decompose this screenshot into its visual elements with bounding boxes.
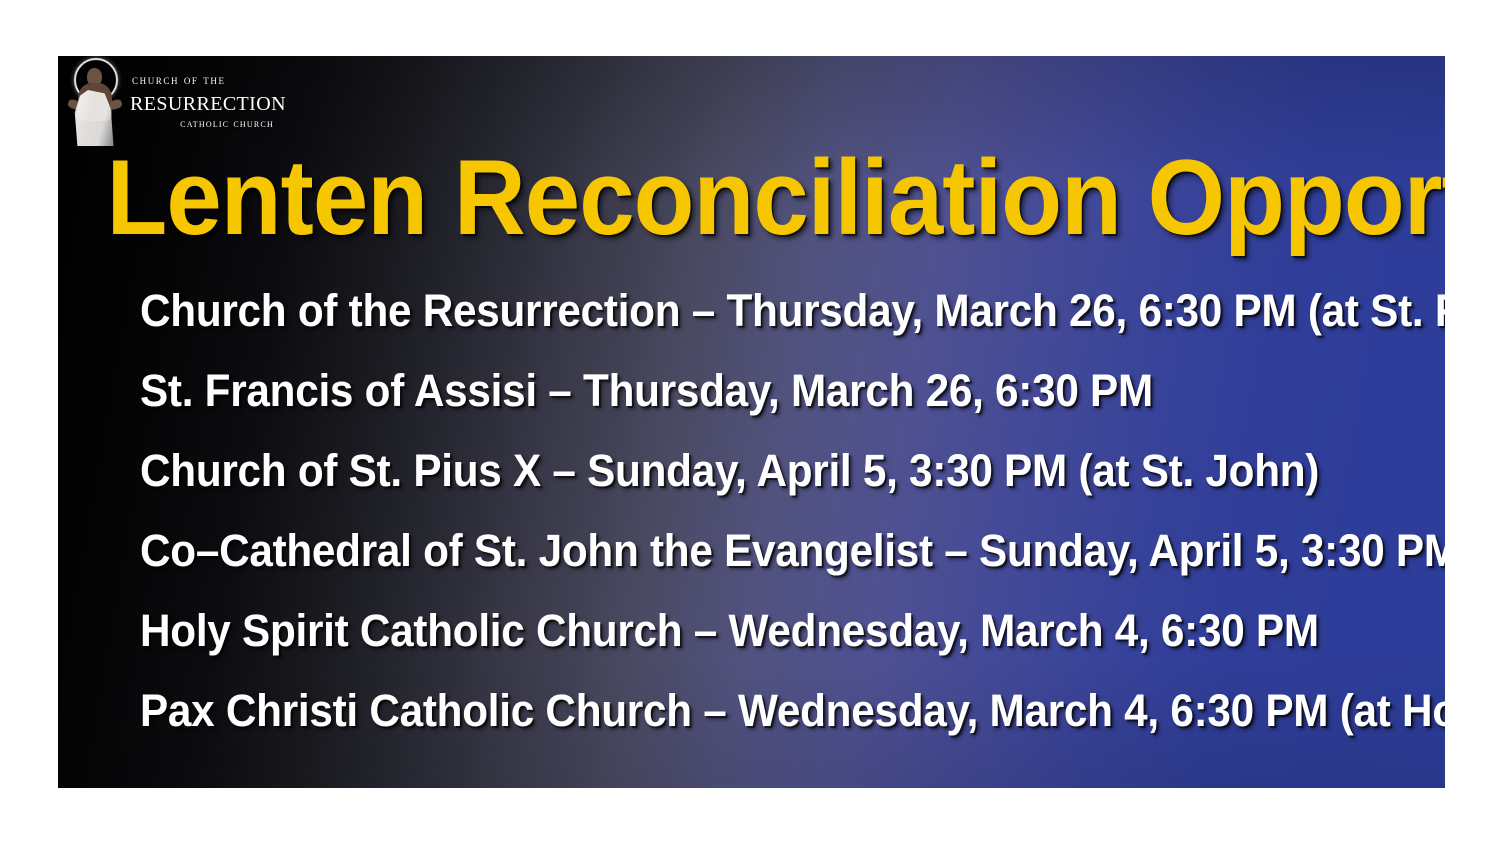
logo-line-catholic-church: Catholic Church <box>130 119 274 131</box>
list-item: St. Francis of Assisi – Thursday, March … <box>140 368 1344 413</box>
list-item: Pax Christi Catholic Church – Wednesday,… <box>140 688 1344 733</box>
parish-logo: Church of the Resurrection Catholic Chur… <box>66 56 336 148</box>
announcement-banner: Church of the Resurrection Catholic Chur… <box>58 56 1445 788</box>
list-item: Church of St. Pius X – Sunday, April 5, … <box>140 448 1344 493</box>
logo-wordmark: Church of the Resurrection Catholic Chur… <box>130 74 286 130</box>
list-item: Church of the Resurrection – Thursday, M… <box>140 288 1344 333</box>
list-item: Co–Cathedral of St. John the Evangelist … <box>140 528 1344 573</box>
page-title: Lenten Reconciliation Opportunities <box>107 144 1397 251</box>
risen-christ-figure-icon <box>66 56 124 148</box>
schedule-list: Church of the Resurrection – Thursday, M… <box>140 288 1421 733</box>
list-item: Holy Spirit Catholic Church – Wednesday,… <box>140 608 1344 653</box>
logo-line-church-of-the: Church of the <box>132 74 286 87</box>
logo-line-resurrection: Resurrection <box>130 88 286 116</box>
